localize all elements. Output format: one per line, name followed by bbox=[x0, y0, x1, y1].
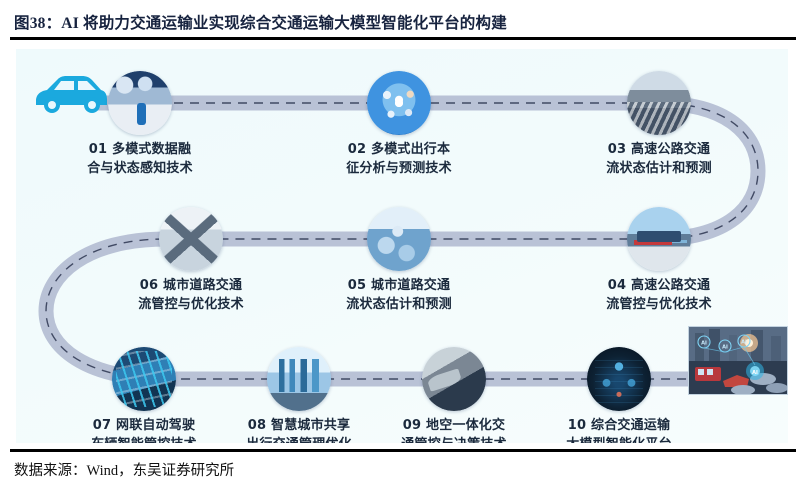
node-label-05: 05 城市道路交通 流状态估计和预测 bbox=[319, 276, 479, 314]
urban-traffic-photo-icon bbox=[367, 207, 431, 271]
svg-text:AI: AI bbox=[722, 345, 728, 351]
node-circle-04[interactable] bbox=[627, 207, 691, 271]
connected-vehicles-photo-icon bbox=[112, 347, 176, 411]
ai-platform-photo-icon bbox=[587, 347, 651, 411]
page-title: 图38：AI 将助力交通运输业实现综合交通运输大模型智能化平台的构建 bbox=[14, 11, 784, 33]
footer-divider bbox=[10, 449, 796, 452]
node-circle-06[interactable] bbox=[159, 207, 223, 271]
car-icon bbox=[32, 69, 110, 117]
node-circle-01[interactable] bbox=[108, 71, 172, 135]
highway-gantry-photo-icon bbox=[627, 207, 691, 271]
highway-traffic-photo-icon bbox=[627, 71, 691, 135]
smart-city-photo-icon bbox=[267, 347, 331, 411]
node-label-04: 04 高速公路交通 流管控与优化技术 bbox=[579, 276, 739, 314]
node-label-07: 07 网联自动驾驶 车辆智能管控技术 bbox=[64, 416, 224, 443]
control-room-photo-icon bbox=[108, 71, 172, 135]
svg-text:AI: AI bbox=[701, 341, 707, 347]
node-label-03: 03 高速公路交通 流状态估计和预测 bbox=[579, 140, 739, 178]
node-circle-02[interactable] bbox=[367, 71, 431, 135]
node-circle-05[interactable] bbox=[367, 207, 431, 271]
svg-text:AI: AI bbox=[741, 340, 747, 346]
node-circle-09[interactable] bbox=[422, 347, 486, 411]
node-circle-03[interactable] bbox=[627, 71, 691, 135]
air-ground-photo-icon bbox=[422, 347, 486, 411]
node-label-10: 10 综合交通运输 大模型智能化平台 bbox=[539, 416, 699, 443]
node-circle-07[interactable] bbox=[112, 347, 176, 411]
intersection-photo-icon bbox=[159, 207, 223, 271]
ai-smart-traffic-illustration: AI AI AI AI bbox=[688, 326, 788, 395]
node-label-09: 09 地空一体化交 通管控与决策技术 bbox=[374, 416, 534, 443]
roadmap-panel: 01 多模式数据融 合与状态感知技术 02 多模式出行本 征分析与预测技术 03… bbox=[16, 49, 788, 443]
node-label-01: 01 多模式数据融 合与状态感知技术 bbox=[60, 140, 220, 178]
node-label-06: 06 城市道路交通 流管控与优化技术 bbox=[111, 276, 271, 314]
node-circle-08[interactable] bbox=[267, 347, 331, 411]
title-divider bbox=[10, 37, 796, 40]
mobility-globe-photo-icon bbox=[367, 71, 431, 135]
svg-text:AI: AI bbox=[752, 370, 758, 376]
data-source: 数据来源：Wind，东吴证券研究所 bbox=[14, 459, 234, 480]
node-label-08: 08 智慧城市共享 出行交通管理优化 bbox=[219, 416, 379, 443]
node-label-02: 02 多模式出行本 征分析与预测技术 bbox=[319, 140, 479, 178]
node-circle-10[interactable] bbox=[587, 347, 651, 411]
